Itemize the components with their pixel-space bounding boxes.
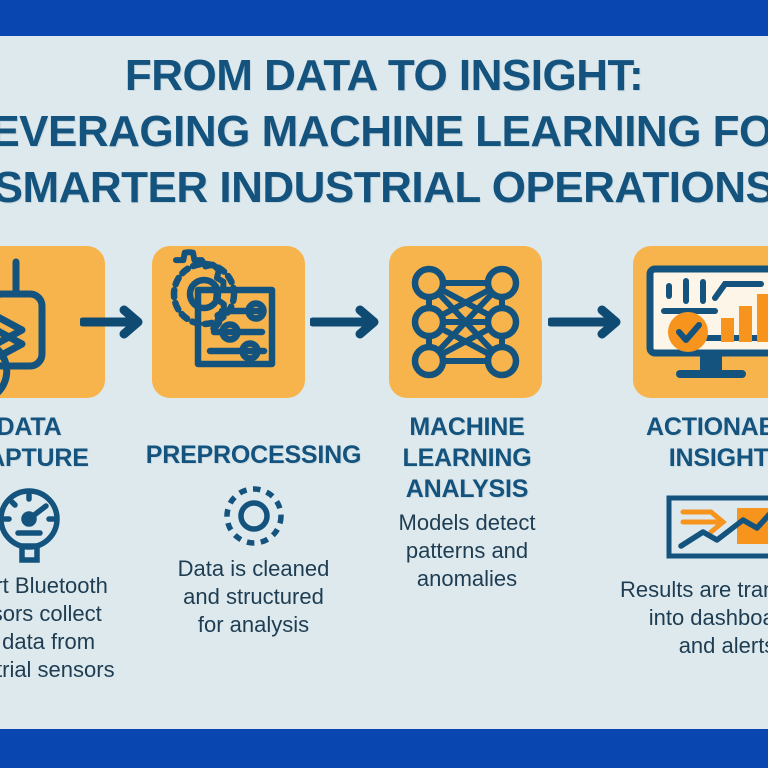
column-heading-actionable-insights: ACTIONABLE INSIGHTS	[612, 412, 768, 474]
title-line-3: SMARTER INDUSTRIAL OPERATIONS	[0, 160, 768, 216]
column-description-actionable-insights: Results are translated into dashboards a…	[612, 576, 768, 660]
column-preprocessing: PREPROCESSING Data is cleaned and struct…	[126, 440, 381, 639]
arrow-step-1-to-2	[80, 304, 150, 340]
top-banner-bar	[0, 0, 768, 36]
dashboard-monitor-icon	[633, 246, 768, 398]
step-card-actionable-insights[interactable]	[633, 246, 768, 398]
column-description-machine-learning: Models detect patterns and anomalies	[379, 509, 555, 593]
step-card-preprocessing[interactable]	[152, 246, 305, 398]
column-machine-learning: MACHINE LEARNING ANALYSIS Models detect …	[379, 412, 555, 593]
infographic-canvas: FROM DATA TO INSIGHT: LEVERAGING MACHINE…	[0, 0, 768, 768]
bottom-banner-bar	[0, 729, 768, 768]
column-actionable-insights: ACTIONABLE INSIGHTS Results are translat…	[612, 412, 768, 660]
step-card-machine-learning[interactable]	[389, 246, 542, 398]
column-data-capture: DATA CAPTURE Smart Bluetooth sensors col…	[0, 412, 144, 684]
process-flow-row	[0, 246, 768, 398]
line-chart-icon	[612, 488, 768, 568]
column-description-preprocessing: Data is cleaned and structured for analy…	[126, 555, 381, 639]
gear-icon	[126, 485, 381, 547]
column-description-data-capture: Smart Bluetooth sensors collect live dat…	[0, 572, 144, 684]
title-line-1: FROM DATA TO INSIGHT:	[0, 48, 768, 104]
pressure-gauge-icon	[0, 484, 144, 564]
neural-network-icon	[389, 246, 542, 398]
gear-settings-sliders-icon	[152, 246, 305, 398]
column-heading-preprocessing: PREPROCESSING	[126, 440, 381, 471]
column-heading-machine-learning: MACHINE LEARNING ANALYSIS	[379, 412, 555, 505]
page-title: FROM DATA TO INSIGHT: LEVERAGING MACHINE…	[0, 48, 768, 216]
title-line-2: LEVERAGING MACHINE LEARNING FOR	[0, 104, 768, 160]
column-heading-data-capture: DATA CAPTURE	[0, 412, 144, 474]
arrow-step-2-to-3	[310, 304, 386, 340]
arrow-step-3-to-4	[548, 304, 628, 340]
